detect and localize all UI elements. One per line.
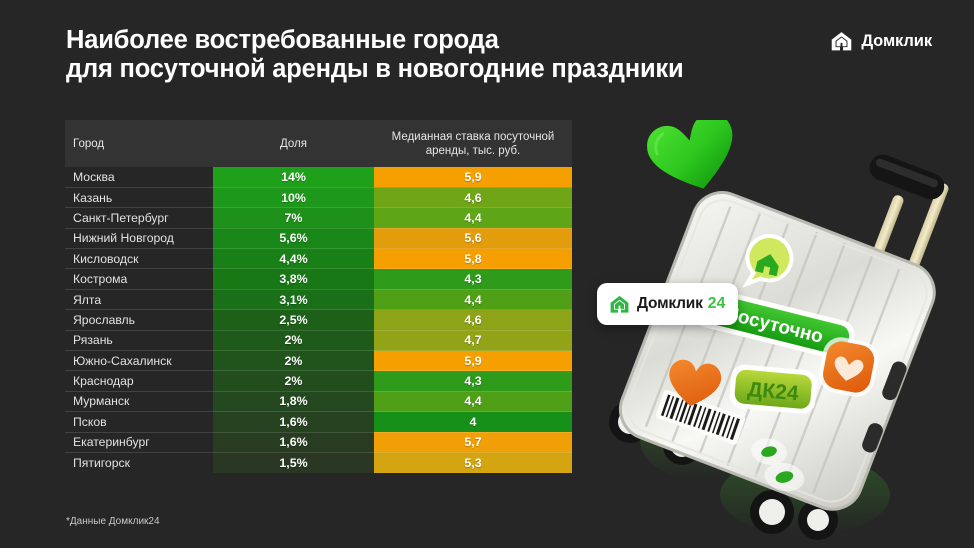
cell-city: Екатеринбург [65, 432, 213, 452]
suitcase-body: Посуточно ДК24 [610, 184, 943, 523]
house-icon [609, 294, 630, 315]
cell-share: 1,6% [213, 412, 374, 432]
cell-share: 2% [213, 330, 374, 350]
cell-rate: 4 [374, 412, 572, 432]
table-row: Санкт-Петербург7%4,4 [65, 208, 572, 228]
table-row: Нижний Новгород5,6%5,6 [65, 228, 572, 248]
table-row: Ярославль2,5%4,6 [65, 310, 572, 330]
cell-share: 1,6% [213, 432, 374, 452]
table-row: Москва14%5,9 [65, 167, 572, 187]
brand-logo: Домклик [830, 30, 932, 53]
sticker-dk24: ДК24 [728, 364, 818, 415]
sticker-heart-orange-right [816, 334, 882, 400]
table-body: Москва14%5,9Казань10%4,6Санкт-Петербург7… [65, 167, 572, 473]
cell-share: 2,5% [213, 310, 374, 330]
cell-rate: 4,4 [374, 208, 572, 228]
table-row: Рязань2%4,7 [65, 330, 572, 350]
cell-rate: 5,7 [374, 432, 572, 452]
barcode-label [655, 389, 746, 445]
cell-city: Казань [65, 187, 213, 207]
table-row: Псков1,6%4 [65, 412, 572, 432]
cell-share: 1,5% [213, 452, 374, 472]
heart-balloon [642, 120, 745, 201]
cell-rate: 4,4 [374, 391, 572, 411]
table-row: Кисловодск4,4%5,8 [65, 249, 572, 269]
cell-rate: 5,9 [374, 167, 572, 187]
table-row: Южно-Сахалинск2%5,9 [65, 351, 572, 371]
table-row: Пятигорск1,5%5,3 [65, 452, 572, 472]
table-row: Краснодар2%4,3 [65, 371, 572, 391]
column-header-rate: Медианная ставка посуточной аренды, тыс.… [374, 120, 572, 167]
cell-city: Санкт-Петербург [65, 208, 213, 228]
cell-city: Нижний Новгород [65, 228, 213, 248]
brand-name: Домклик [861, 32, 932, 51]
cell-city: Мурманск [65, 391, 213, 411]
cell-city: Ярославль [65, 310, 213, 330]
cell-city: Москва [65, 167, 213, 187]
suitcase-illustration: Посуточно ДК24 [590, 120, 974, 548]
cell-rate: 5,9 [374, 351, 572, 371]
table-header-row: Город Доля Медианная ставка посуточной а… [65, 120, 572, 167]
cell-rate: 4,4 [374, 289, 572, 309]
cell-rate: 4,3 [374, 269, 572, 289]
cell-city: Рязань [65, 330, 213, 350]
cell-share: 2% [213, 351, 374, 371]
cities-table: Город Доля Медианная ставка посуточной а… [65, 120, 572, 473]
table-row: Ялта3,1%4,4 [65, 289, 572, 309]
cell-city: Южно-Сахалинск [65, 351, 213, 371]
house-icon [830, 30, 853, 53]
suitcase-wheels [609, 401, 838, 540]
cell-rate: 5,8 [374, 249, 572, 269]
infographic-page: Наиболее востребованные города для посут… [0, 0, 974, 548]
badge-brand-name: Домклик [637, 295, 703, 313]
column-header-city: Город [65, 120, 213, 167]
footnote: *Данные Домклик24 [66, 516, 160, 527]
suitcase-handle [856, 151, 950, 299]
table-row: Екатеринбург1,6%5,7 [65, 432, 572, 452]
cell-rate: 4,3 [374, 371, 572, 391]
table-header: Город Доля Медианная ставка посуточной а… [65, 120, 572, 167]
column-header-rate-line-2: аренды, тыс. руб. [426, 145, 521, 157]
cell-city: Пятигорск [65, 452, 213, 472]
cell-city: Кострома [65, 269, 213, 289]
cell-city: Ялта [65, 289, 213, 309]
table-row: Кострома3,8%4,3 [65, 269, 572, 289]
cell-share: 14% [213, 167, 374, 187]
column-header-rate-line-1: Медианная ставка посуточной [392, 131, 555, 143]
cell-rate: 5,3 [374, 452, 572, 472]
page-title-line-1: Наиболее востребованные города [66, 26, 786, 55]
sticker-leaves [744, 435, 810, 494]
badge-24-label: 24 [708, 295, 726, 313]
cell-share: 7% [213, 208, 374, 228]
cell-share: 3,8% [213, 269, 374, 289]
cell-rate: 4,6 [374, 310, 572, 330]
cell-city: Кисловодск [65, 249, 213, 269]
cities-table-container: Город Доля Медианная ставка посуточной а… [65, 120, 572, 473]
cell-city: Краснодар [65, 371, 213, 391]
sticker-heart-orange-left [665, 358, 723, 410]
page-title: Наиболее востребованные города для посут… [66, 26, 786, 84]
cell-rate: 4,6 [374, 187, 572, 207]
table-row: Казань10%4,6 [65, 187, 572, 207]
cell-share: 4,4% [213, 249, 374, 269]
cell-rate: 4,7 [374, 330, 572, 350]
table-row: Мурманск1,8%4,4 [65, 391, 572, 411]
svg-text:ДК24: ДК24 [747, 378, 800, 405]
cell-rate: 5,6 [374, 228, 572, 248]
domklik24-badge: Домклик 24 [597, 283, 738, 325]
cell-share: 2% [213, 371, 374, 391]
cell-share: 3,1% [213, 289, 374, 309]
column-header-share: Доля [213, 120, 374, 167]
cell-share: 10% [213, 187, 374, 207]
cell-share: 5,6% [213, 228, 374, 248]
cell-city: Псков [65, 412, 213, 432]
cell-share: 1,8% [213, 391, 374, 411]
page-title-line-2: для посуточной аренды в новогодние празд… [66, 55, 786, 84]
sticker-house [741, 232, 796, 293]
